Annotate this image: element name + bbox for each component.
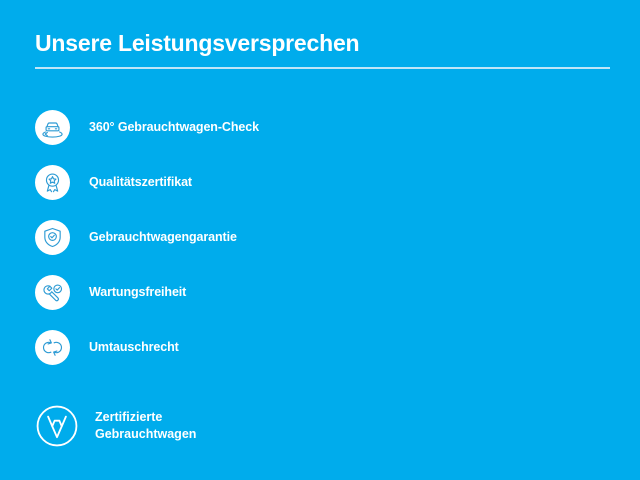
benefit-label: 360° Gebrauchtwagen-Check — [89, 120, 259, 135]
shield-check-icon — [35, 220, 70, 255]
benefit-item-used-car-warranty[interactable]: Gebrauchtwagengarantie — [35, 210, 320, 265]
brand-text-line-1: Zertifizierte — [95, 409, 196, 426]
header: Unsere Leistungsversprechen — [35, 30, 610, 69]
benefits-grid: 360° Gebrauchtwagen-Check Qualitätszerti… — [0, 100, 640, 375]
benefits-left-column: 360° Gebrauchtwagen-Check Qualitätszerti… — [0, 100, 320, 375]
page-title: Unsere Leistungsversprechen — [35, 30, 610, 56]
car-360-check-icon — [35, 110, 70, 145]
brand-text-line-2: Gebrauchtwagen — [95, 426, 196, 443]
benefit-label: Qualitätszertifikat — [89, 175, 192, 190]
benefit-item-360-check[interactable]: 360° Gebrauchtwagen-Check — [35, 100, 320, 155]
benefits-right-column: Finanzdienstleistungen — [283, 100, 640, 375]
wrench-check-icon — [35, 275, 70, 310]
benefit-item-quality-certificate[interactable]: Qualitätszertifikat — [35, 155, 320, 210]
benefit-item-exchange-right[interactable]: Umtauschrecht — [35, 320, 320, 375]
exchange-arrows-icon — [35, 330, 70, 365]
award-medal-star-icon — [35, 165, 70, 200]
benefit-label: Umtauschrecht — [89, 340, 179, 355]
brand-text: Zertifizierte Gebrauchtwagen — [95, 409, 196, 443]
benefit-label: Gebrauchtwagengarantie — [89, 230, 237, 245]
benefit-item-maintenance-free[interactable]: Wartungsfreiheit — [35, 265, 320, 320]
slide-root: Unsere Leistungsversprechen 360° Gebrauc — [0, 0, 640, 480]
benefit-label: Wartungsfreiheit — [89, 285, 186, 300]
brand-lockup: Zertifizierte Gebrauchtwagen — [35, 404, 196, 448]
volkswagen-logo — [35, 404, 79, 448]
title-divider — [35, 67, 610, 69]
